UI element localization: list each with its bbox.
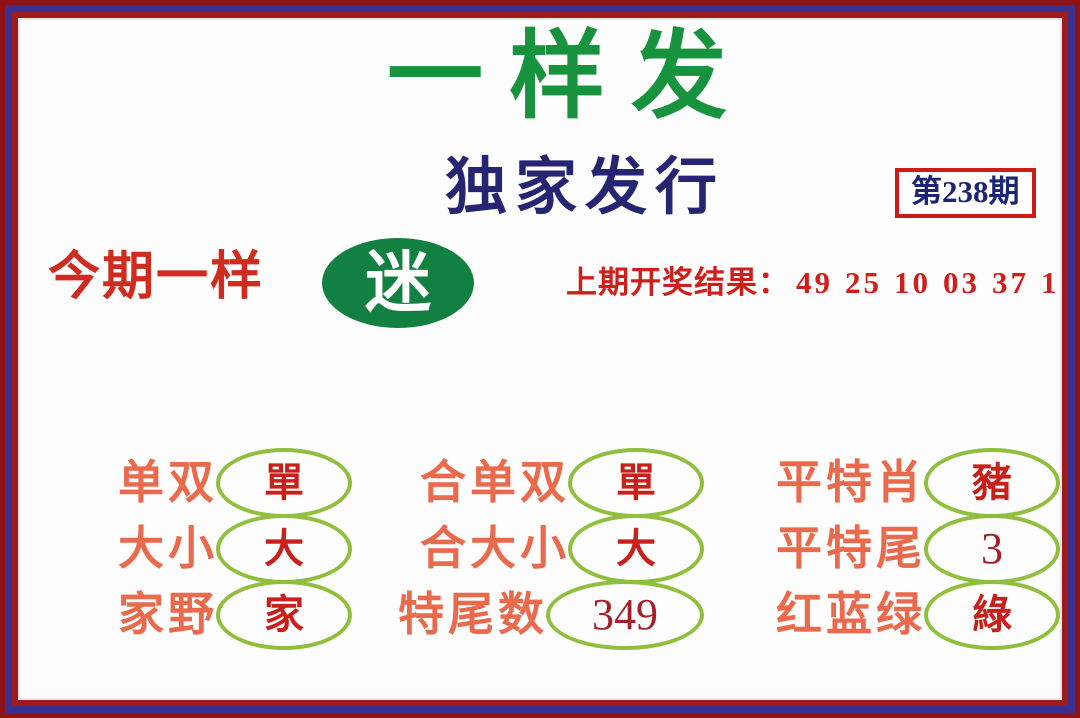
- lottery-poster: 一样发 独家发行 第238期 今期一样 迷 上期开奖结果：49251003371…: [0, 0, 1080, 718]
- prediction-value: 家: [264, 595, 304, 635]
- prediction-value: 單: [616, 463, 656, 503]
- issue-badge: 第238期: [895, 168, 1036, 218]
- last-draw-number: 49: [796, 265, 833, 300]
- prediction-row: 特尾数349: [354, 582, 704, 648]
- prediction-label: 合单双: [420, 460, 572, 506]
- prediction-label: 大小: [118, 526, 220, 572]
- slogan-text: 今期一样: [48, 252, 264, 304]
- prediction-row: 平特肖豬: [710, 450, 1060, 516]
- predictions-grid: 单双單大小大家野家 合单双單合大小大特尾数349 平特肖豬平特尾3红蓝绿綠: [24, 450, 1064, 660]
- prediction-label: 单双: [118, 460, 220, 506]
- last-draw-number: 03: [943, 265, 980, 300]
- prediction-row: 单双單: [32, 450, 352, 516]
- last-draw-result-label: 上期开奖结果：: [566, 265, 790, 300]
- prediction-value: 綠: [972, 595, 1012, 635]
- prediction-value: 大: [616, 529, 656, 569]
- prediction-row: 合大小大: [354, 516, 704, 582]
- prediction-value-oval: 綠: [924, 580, 1060, 650]
- prediction-row: 家野家: [32, 582, 352, 648]
- prediction-value: 豬: [972, 463, 1012, 503]
- prediction-value: 3: [981, 527, 1003, 571]
- prediction-value-oval: 349: [546, 580, 704, 650]
- prediction-value: 大: [264, 529, 304, 569]
- prediction-value-oval: 單: [216, 448, 352, 518]
- last-draw-number: 25: [845, 265, 882, 300]
- page-title: 一样发: [270, 28, 870, 124]
- prediction-value-oval: 3: [924, 514, 1060, 584]
- prediction-value-oval: 單: [568, 448, 704, 518]
- prediction-row: 合单双單: [354, 450, 704, 516]
- mystery-badge-glyph: 迷: [322, 244, 474, 322]
- prediction-label: 特尾数: [398, 592, 550, 638]
- last-draw-number: 37: [992, 265, 1029, 300]
- last-draw-number: 10: [894, 265, 931, 300]
- prediction-label: 家野: [118, 592, 220, 638]
- last-draw-result: 上期开奖结果：492510033717+02: [566, 264, 1080, 301]
- last-draw-numbers: 492510033717+02: [796, 265, 1080, 300]
- prediction-value-oval: 家: [216, 580, 352, 650]
- prediction-value: 349: [592, 593, 658, 637]
- mystery-badge: 迷: [322, 238, 474, 328]
- prediction-value: 單: [264, 463, 304, 503]
- prediction-label: 合大小: [420, 526, 572, 572]
- prediction-value-oval: 大: [568, 514, 704, 584]
- predictions-column-2: 合单双單合大小大特尾数349: [354, 450, 704, 660]
- prediction-label: 红蓝绿: [776, 592, 928, 638]
- prediction-row: 平特尾3: [710, 516, 1060, 582]
- prediction-label: 平特肖: [776, 460, 928, 506]
- prediction-label: 平特尾: [776, 526, 928, 572]
- predictions-column-1: 单双單大小大家野家: [32, 450, 352, 660]
- subtitle: 独家发行: [445, 156, 725, 218]
- prediction-row: 大小大: [32, 516, 352, 582]
- last-draw-number: 17+02: [1041, 265, 1080, 300]
- prediction-row: 红蓝绿綠: [710, 582, 1060, 648]
- prediction-value-oval: 大: [216, 514, 352, 584]
- predictions-column-3: 平特肖豬平特尾3红蓝绿綠: [710, 450, 1060, 660]
- prediction-value-oval: 豬: [924, 448, 1060, 518]
